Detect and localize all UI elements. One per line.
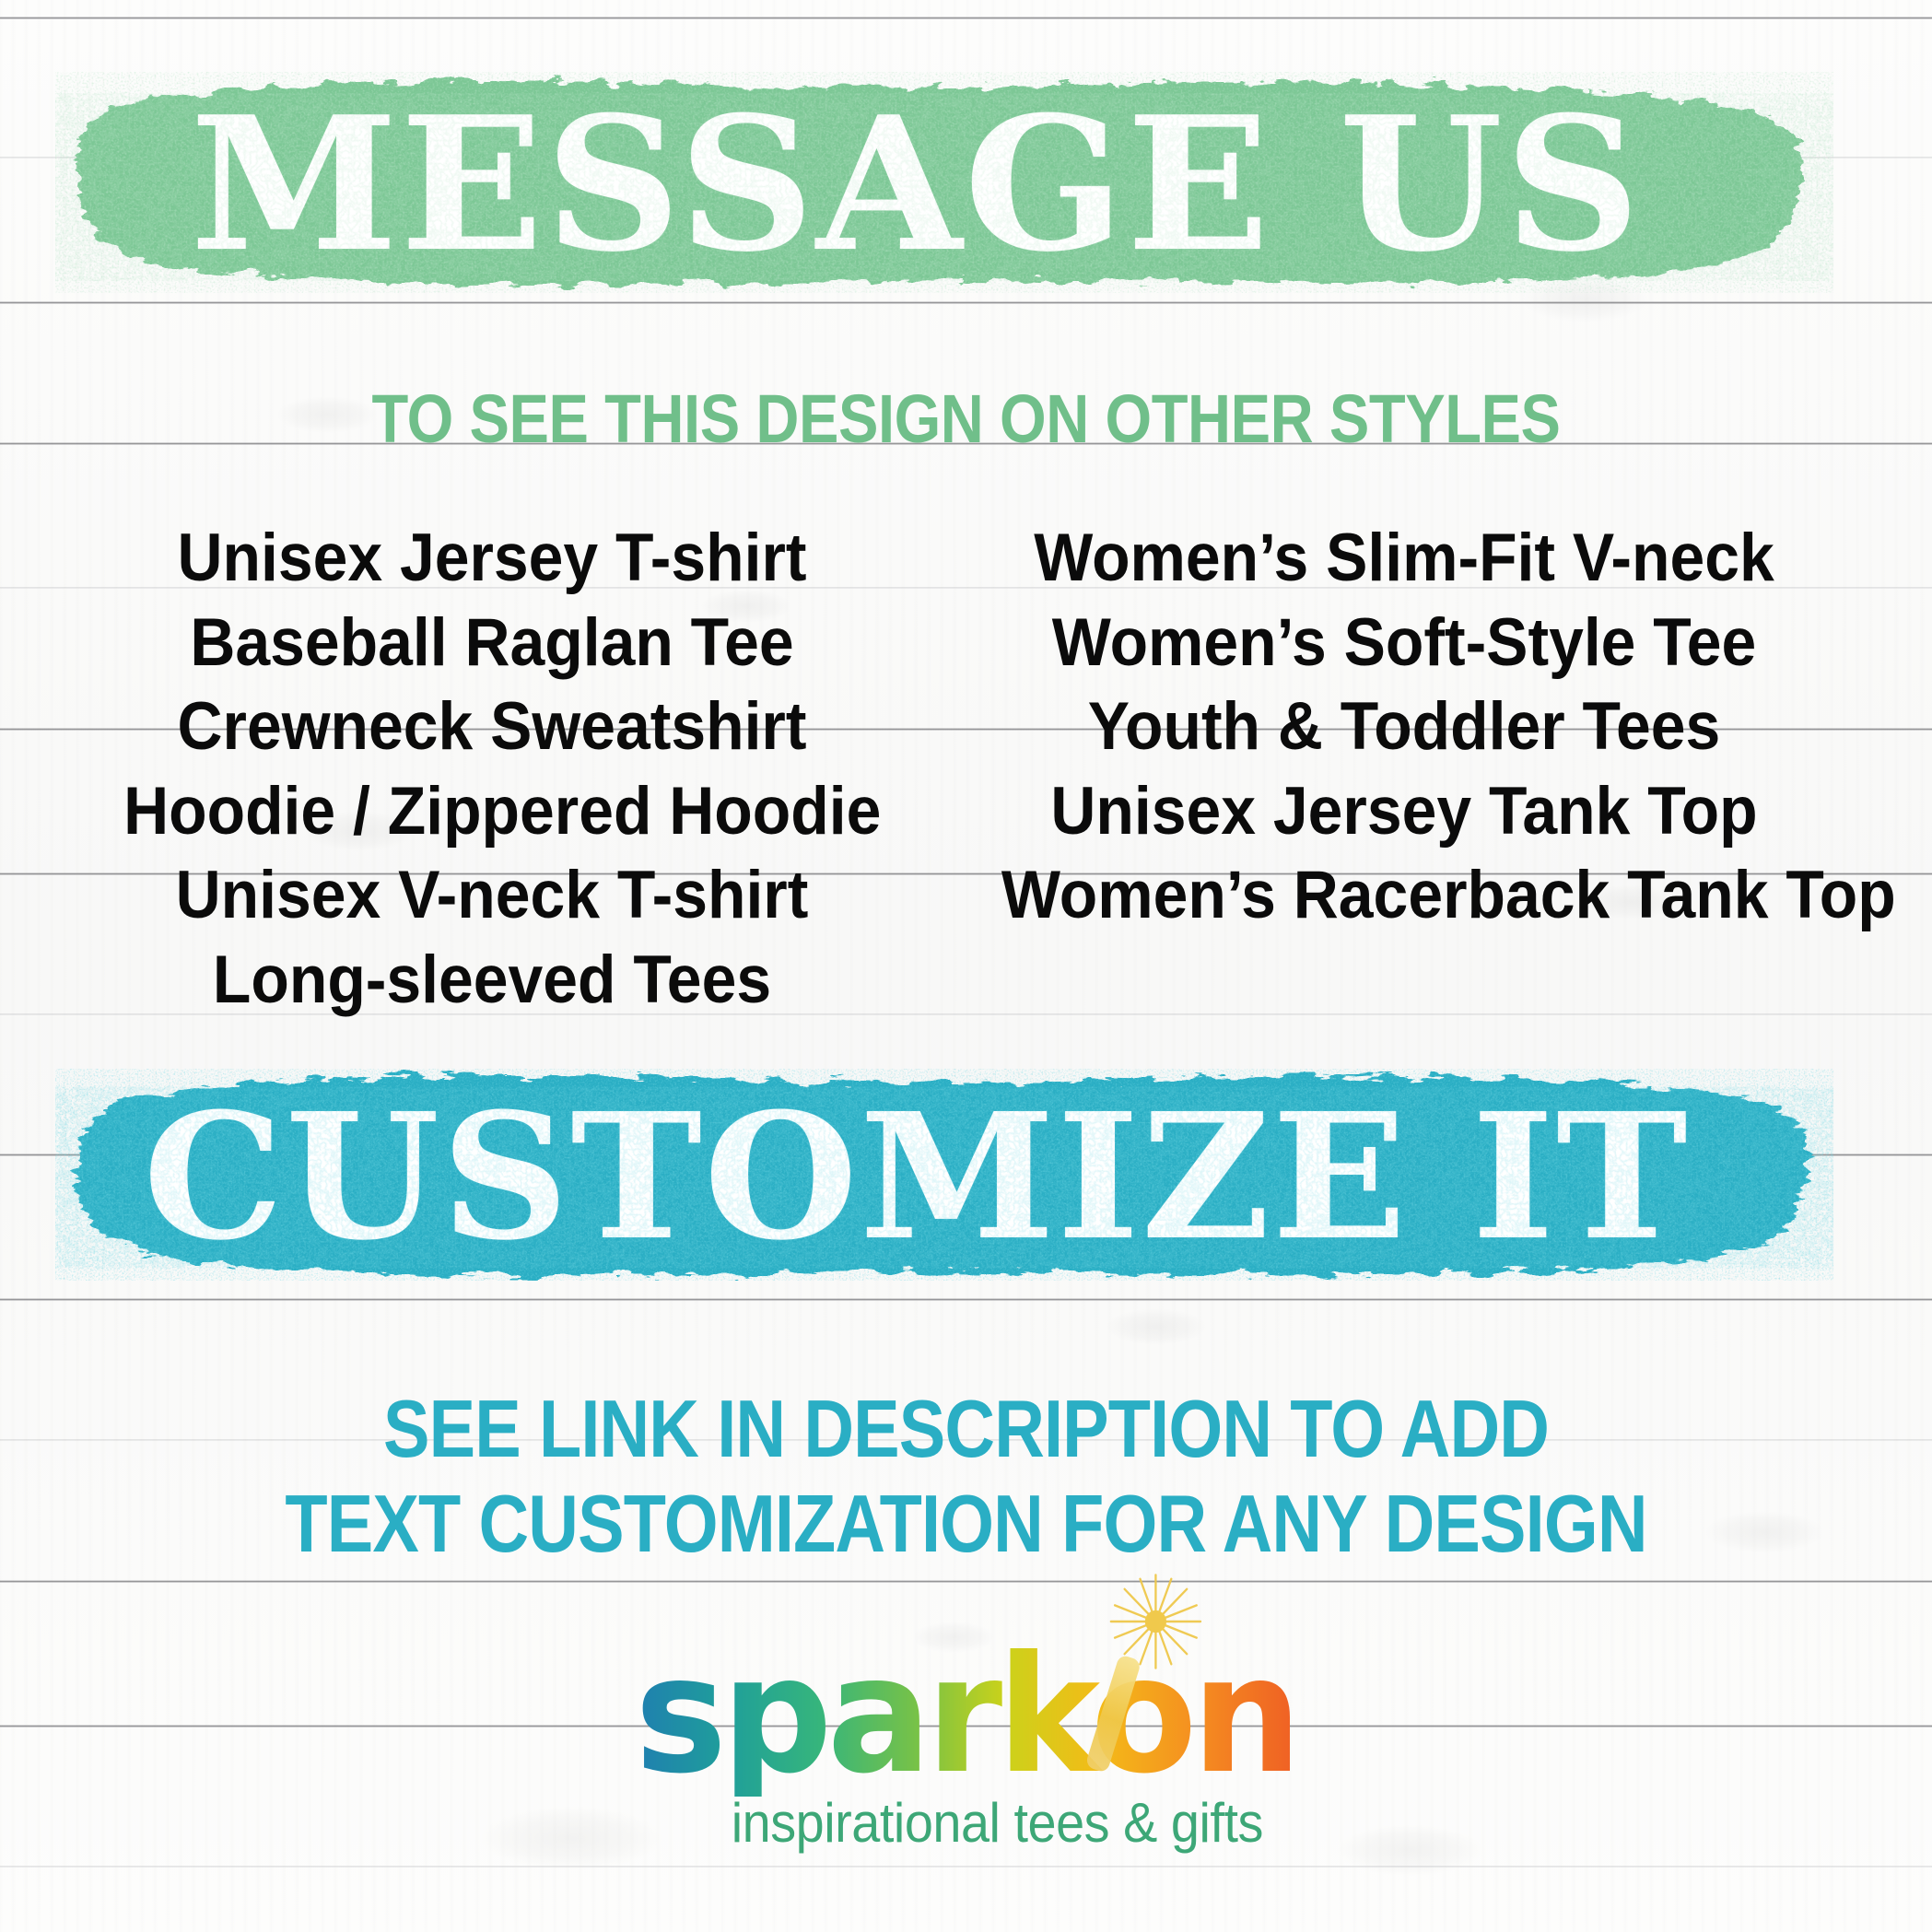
poster-canvas: MESSAGE US TO SEE THIS DESIGN ON OTHER S… <box>0 0 1932 1932</box>
list-item: Women’s Slim-Fit V-neck <box>1001 516 1806 601</box>
list-item: Youth & Toddler Tees <box>1001 685 1806 769</box>
brand-logo: sparkon <box>0 1635 1932 1855</box>
list-item: Women’s Racerback Tank Top <box>1001 853 1806 938</box>
list-item: Unisex Jersey T-shirt <box>123 516 861 601</box>
list-item: Long-sleeved Tees <box>123 938 861 1023</box>
list-item: Crewneck Sweatshirt <box>123 685 861 769</box>
plank-line <box>0 1580 1932 1583</box>
customize-subtitle: SEE LINK IN DESCRIPTION TO ADD TEXT CUST… <box>135 1382 1797 1572</box>
logo-wordmark-spark: spark <box>635 1622 1091 1809</box>
plank-line <box>0 1298 1932 1301</box>
message-us-banner: MESSAGE US <box>55 72 1833 293</box>
logo-tagline: inspirational tees & gifts <box>732 1791 1263 1855</box>
wood-knot <box>1106 1308 1207 1345</box>
plank-line <box>0 1866 1932 1868</box>
customize-subtitle-line-2: TEXT CUSTOMIZATION FOR ANY DESIGN <box>135 1477 1797 1572</box>
list-item: Women’s Soft-Style Tee <box>1001 601 1806 685</box>
list-item: Hoodie / Zippered Hoodie <box>123 769 861 854</box>
plank-line <box>0 17 1932 19</box>
list-item: Unisex Jersey Tank Top <box>1001 769 1806 854</box>
list-item: Baseball Raglan Tee <box>123 601 861 685</box>
customize-it-headline: CUSTOMIZE IT <box>38 1071 1852 1282</box>
list-item: Unisex V-neck T-shirt <box>123 853 861 938</box>
customize-subtitle-line-1: SEE LINK IN DESCRIPTION TO ADD <box>135 1382 1797 1477</box>
styles-subtitle: TO SEE THIS DESIGN ON OTHER STYLES <box>116 380 1816 458</box>
sunburst-spark-icon <box>1107 1571 1204 1672</box>
styles-column-left: Unisex Jersey T-shirt Baseball Raglan Te… <box>96 516 888 1023</box>
styles-column-right: Women’s Slim-Fit V-neck Women’s Soft-Sty… <box>971 516 1837 938</box>
message-us-headline: MESSAGE US <box>38 74 1852 295</box>
customize-it-banner: CUSTOMIZE IT <box>55 1069 1833 1281</box>
apparel-styles-lists: Unisex Jersey T-shirt Baseball Raglan Te… <box>0 516 1932 1023</box>
logo-wordmark: sparkon <box>635 1635 1296 1797</box>
